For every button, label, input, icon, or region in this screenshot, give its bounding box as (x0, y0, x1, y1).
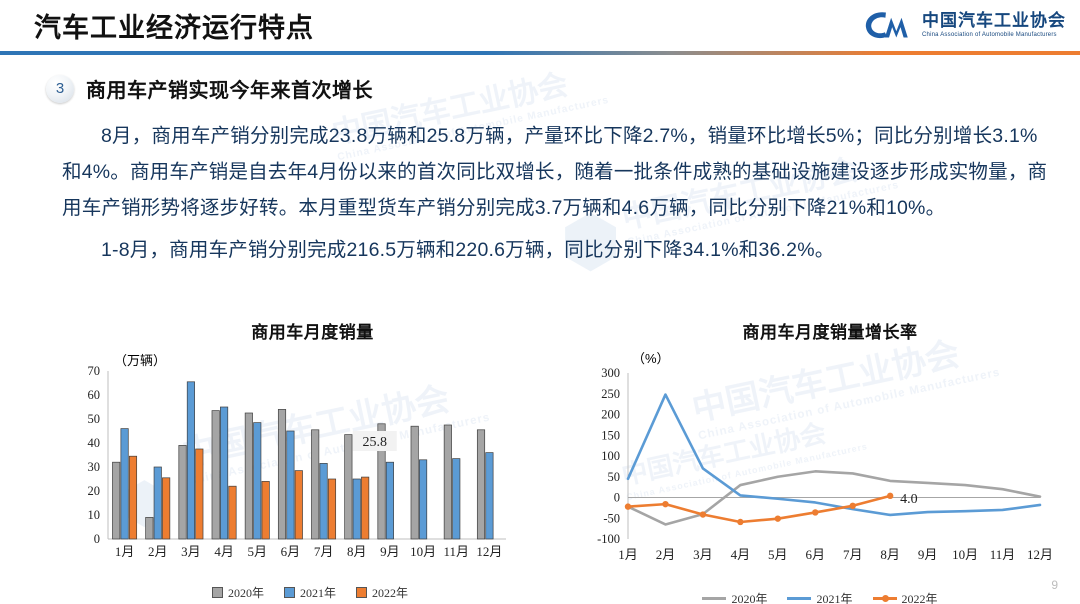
svg-text:40: 40 (88, 436, 101, 450)
svg-text:4.0: 4.0 (900, 492, 918, 507)
svg-text:0: 0 (614, 491, 620, 505)
logo-subtitle: China Association of Automobile Manufact… (922, 32, 1066, 38)
legend-swatch-icon (356, 587, 367, 598)
svg-text:5月: 5月 (768, 547, 788, 562)
line-chart-svg: （%）300250200150100500-50-1001月2月3月4月5月6月… (560, 343, 1060, 583)
chart-legend: 2020年 2021年 2022年 (110, 584, 510, 601)
svg-text:10月: 10月 (952, 547, 978, 562)
svg-text:0: 0 (94, 532, 100, 546)
svg-text:1月: 1月 (115, 544, 135, 559)
svg-text:250: 250 (601, 387, 620, 401)
svg-text:6月: 6月 (806, 547, 826, 562)
section-number-badge: 3 (46, 75, 74, 103)
svg-text:200: 200 (601, 408, 620, 422)
legend-item-2021: 2021年 (787, 590, 852, 604)
svg-text:-100: -100 (597, 532, 620, 546)
svg-text:10: 10 (88, 508, 101, 522)
section-heading: 3 商用车产销实现今年来首次增长 (46, 74, 373, 103)
svg-text:8月: 8月 (880, 547, 900, 562)
svg-text:60: 60 (88, 388, 101, 402)
page-number: 9 (1051, 578, 1058, 592)
svg-text:50: 50 (608, 470, 621, 484)
svg-text:7月: 7月 (314, 544, 334, 559)
svg-text:10月: 10月 (410, 544, 436, 559)
svg-text:4月: 4月 (731, 547, 751, 562)
legend-item-2020: 2020年 (212, 584, 264, 601)
legend-line-icon (787, 597, 811, 600)
header: 汽车工业经济运行特点 中国汽车工业协会 China Association of… (0, 0, 1080, 50)
body-text: 8月，商用车产销分别完成23.8万辆和25.8万辆，产量环比下降2.7%，销量环… (62, 118, 1052, 274)
svg-text:20: 20 (88, 484, 101, 498)
legend-label: 2022年 (902, 590, 938, 604)
legend-label: 2022年 (372, 584, 408, 601)
logo-title: 中国汽车工业协会 (922, 12, 1066, 30)
paragraph-1: 8月，商用车产销分别完成23.8万辆和25.8万辆，产量环比下降2.7%，销量环… (62, 118, 1052, 226)
svg-text:1月: 1月 (618, 547, 638, 562)
association-logo: 中国汽车工业协会 China Association of Automobile… (862, 8, 1066, 42)
svg-text:12月: 12月 (476, 544, 502, 559)
section-title: 商用车产销实现今年来首次增长 (86, 74, 373, 103)
paragraph-2: 1-8月，商用车产销分别完成216.5万辆和220.6万辆，同比分别下降34.1… (62, 232, 1052, 268)
svg-text:4月: 4月 (214, 544, 234, 559)
legend-label: 2021年 (816, 590, 852, 604)
svg-text:30: 30 (88, 460, 101, 474)
svg-text:12月: 12月 (1027, 547, 1053, 562)
legend-item-2020: 2020年 (702, 590, 767, 604)
page-title: 汽车工业经济运行特点 (34, 6, 314, 45)
svg-text:2月: 2月 (656, 547, 676, 562)
svg-text:25.8: 25.8 (363, 435, 388, 450)
legend-item-2021: 2021年 (284, 584, 336, 601)
svg-text:9月: 9月 (918, 547, 938, 562)
chart-title: 商用车月度销量 (115, 318, 510, 343)
header-divider (0, 51, 1080, 55)
slide: 中国汽车工业协会 China Association of Automobile… (0, 0, 1080, 604)
svg-text:2月: 2月 (148, 544, 168, 559)
chart-commercial-vehicle-monthly-sales-growth-rate: 商用车月度销量增长率 （%）300250200150100500-50-1001… (560, 318, 1060, 588)
svg-text:（万辆）: （万辆） (114, 353, 166, 368)
svg-text:（%）: （%） (632, 351, 670, 366)
svg-text:11月: 11月 (443, 544, 469, 559)
chart-title: 商用车月度销量增长率 (600, 318, 1060, 343)
svg-text:7月: 7月 (843, 547, 863, 562)
legend-item-2022: 2022年 (356, 584, 408, 601)
svg-text:9月: 9月 (380, 544, 400, 559)
svg-text:-50: -50 (603, 511, 620, 525)
legend-label: 2021年 (300, 584, 336, 601)
legend-item-2022: 2022年 (873, 590, 938, 604)
legend-line-icon (702, 597, 726, 600)
svg-text:11月: 11月 (990, 547, 1016, 562)
svg-text:5月: 5月 (247, 544, 267, 559)
legend-label: 2020年 (228, 584, 264, 601)
chart-legend: 2020年 2021年 2022年 (580, 590, 1060, 604)
legend-line-icon (873, 597, 897, 600)
svg-text:50: 50 (88, 412, 101, 426)
svg-text:8月: 8月 (347, 544, 367, 559)
svg-text:6月: 6月 (281, 544, 301, 559)
svg-text:150: 150 (601, 428, 620, 442)
legend-marker-icon (882, 595, 889, 602)
legend-label: 2020年 (731, 590, 767, 604)
svg-text:100: 100 (601, 449, 620, 463)
bar-chart-svg: （万辆）0102030405060701月2月3月4月5月6月7月8月9月10月… (60, 343, 510, 583)
cam-logo-icon (862, 8, 914, 42)
svg-text:3月: 3月 (693, 547, 713, 562)
svg-text:3月: 3月 (181, 544, 201, 559)
legend-swatch-icon (284, 587, 295, 598)
svg-text:300: 300 (601, 366, 620, 380)
legend-swatch-icon (212, 587, 223, 598)
svg-text:70: 70 (88, 364, 101, 378)
chart-commercial-vehicle-monthly-sales: 商用车月度销量 （万辆）0102030405060701月2月3月4月5月6月7… (60, 318, 510, 588)
